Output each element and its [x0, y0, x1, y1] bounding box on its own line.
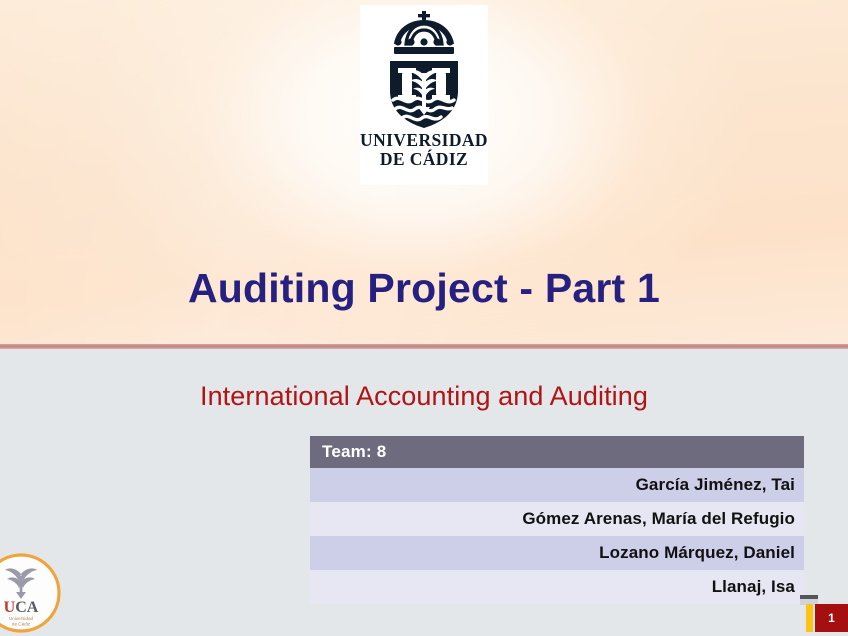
university-name: UNIVERSIDAD DE CÁDIZ: [360, 131, 488, 169]
team-member-name: García Jiménez, Tai: [310, 468, 804, 502]
table-row: Llanaj, Isa: [310, 570, 804, 604]
table-row: Gómez Arenas, María del Refugio: [310, 502, 804, 536]
page-subtitle: International Accounting and Auditing: [0, 381, 848, 412]
svg-text:UCA: UCA: [4, 599, 39, 616]
page-number-value: 1: [815, 604, 848, 632]
table-row: García Jiménez, Tai: [310, 468, 804, 502]
table-header-row: Team: 8: [310, 436, 804, 468]
university-logo: UNIVERSIDAD DE CÁDIZ: [360, 5, 488, 185]
uca-seal-icon: UCA Universidad de Cádiz: [0, 550, 64, 636]
team-member-name: Lozano Márquez, Daniel: [310, 536, 804, 570]
team-table: Team: 8 García Jiménez, Tai Gómez Arenas…: [310, 436, 804, 604]
page-number-notch-cap: [800, 595, 818, 599]
page-number-tab: [806, 604, 813, 632]
team-member-name: Llanaj, Isa: [310, 570, 804, 604]
svg-text:de Cádiz: de Cádiz: [12, 622, 31, 627]
team-header-label: Team: 8: [310, 436, 804, 468]
page-number-badge: 1: [806, 604, 848, 632]
svg-text:Universidad: Universidad: [9, 616, 34, 621]
page-title: Auditing Project - Part 1: [0, 265, 848, 312]
team-member-name: Gómez Arenas, María del Refugio: [310, 502, 804, 536]
university-name-line2: DE CÁDIZ: [360, 150, 488, 169]
uca-coat-of-arms-icon: [378, 11, 470, 129]
university-name-line1: UNIVERSIDAD: [360, 131, 488, 150]
table-row: Lozano Márquez, Daniel: [310, 536, 804, 570]
presentation-slide: UNIVERSIDAD DE CÁDIZ Auditing Project - …: [0, 0, 848, 636]
